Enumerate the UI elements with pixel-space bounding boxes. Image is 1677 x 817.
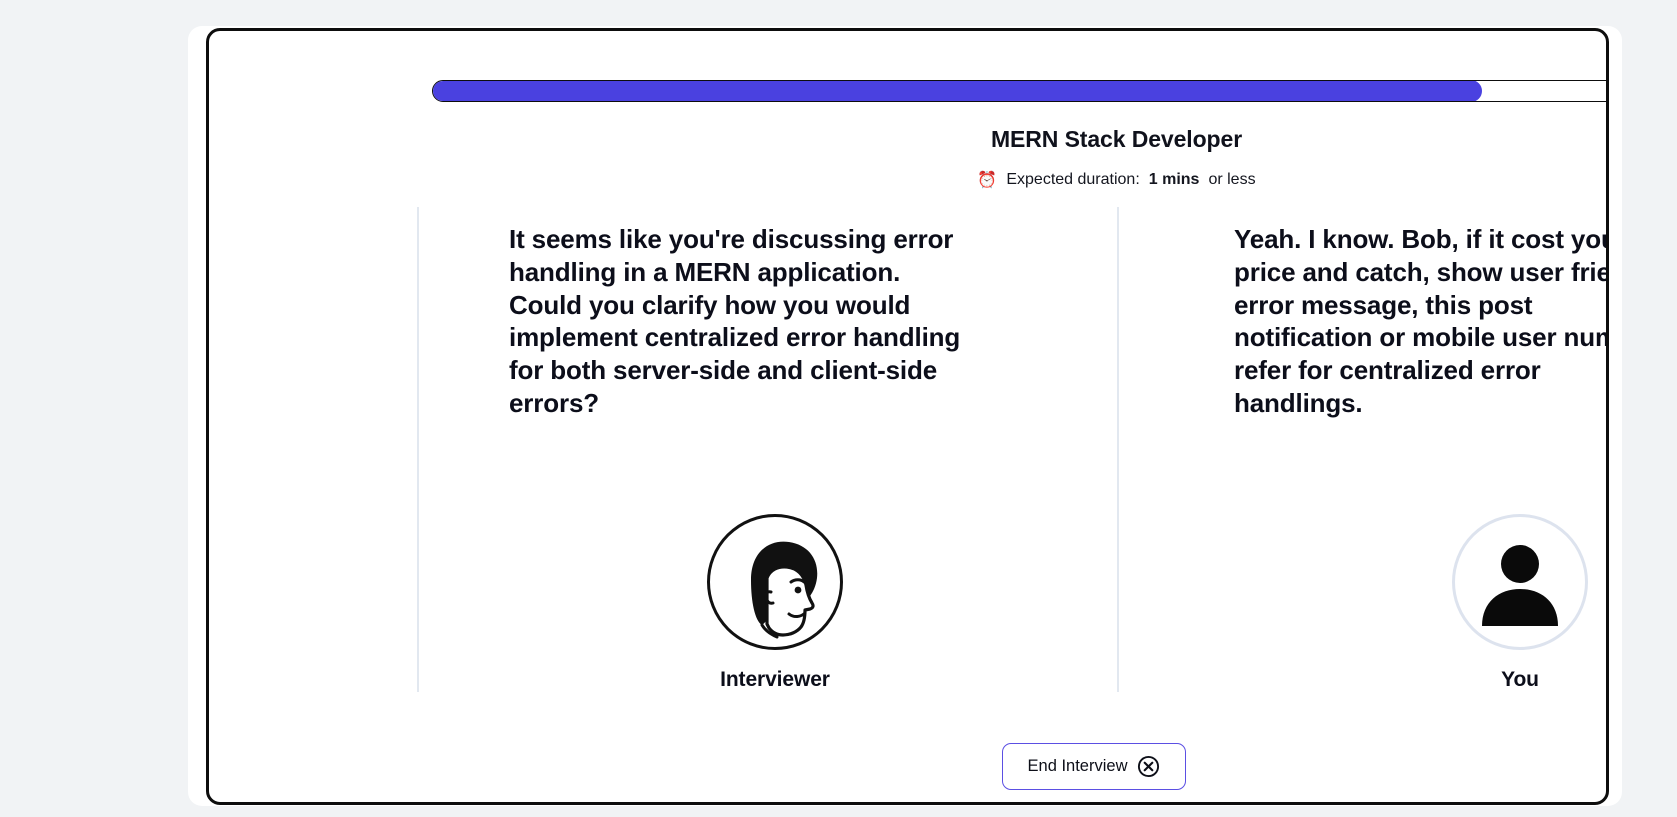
you-speech-text: Yeah. I know. Bob, if it cost you a pric… [1234, 223, 1609, 420]
interviewer-speech-text: It seems like you're discussing error ha… [509, 223, 964, 420]
avatar [707, 514, 843, 650]
interview-card: MERN Stack Developer ⏰ Expected duration… [206, 28, 1609, 805]
page-title: MERN Stack Developer [415, 126, 1609, 153]
end-interview-label: End Interview [1028, 757, 1128, 776]
avatar [1452, 514, 1588, 650]
alarm-clock-icon: ⏰ [977, 173, 997, 189]
end-interview-button[interactable]: End Interview [1002, 743, 1186, 790]
conversation-panes: It seems like you're discussing error ha… [417, 207, 1609, 692]
close-circle-icon [1137, 755, 1160, 778]
interviewer-label: Interviewer [720, 668, 830, 692]
interviewer-avatar-block: Interviewer [426, 514, 1124, 692]
duration-value: 1 mins [1149, 171, 1200, 189]
app-root: MERN Stack Developer ⏰ Expected duration… [0, 0, 1677, 817]
progress-bar-track [432, 80, 1609, 102]
you-label: You [1501, 668, 1539, 692]
progress-bar-fill [432, 80, 1482, 102]
duration-suffix-label: or less [1208, 171, 1255, 189]
expected-duration: ⏰ Expected duration: 1 mins or less [415, 171, 1609, 189]
you-pane: Yeah. I know. Bob, if it cost you a pric… [1117, 207, 1609, 692]
user-silhouette-icon [1472, 534, 1568, 630]
you-avatar-block: You [1171, 514, 1609, 692]
interviewer-face-icon [715, 522, 835, 642]
duration-prefix-label: Expected duration: [1006, 171, 1139, 189]
interviewer-pane: It seems like you're discussing error ha… [417, 207, 1117, 692]
